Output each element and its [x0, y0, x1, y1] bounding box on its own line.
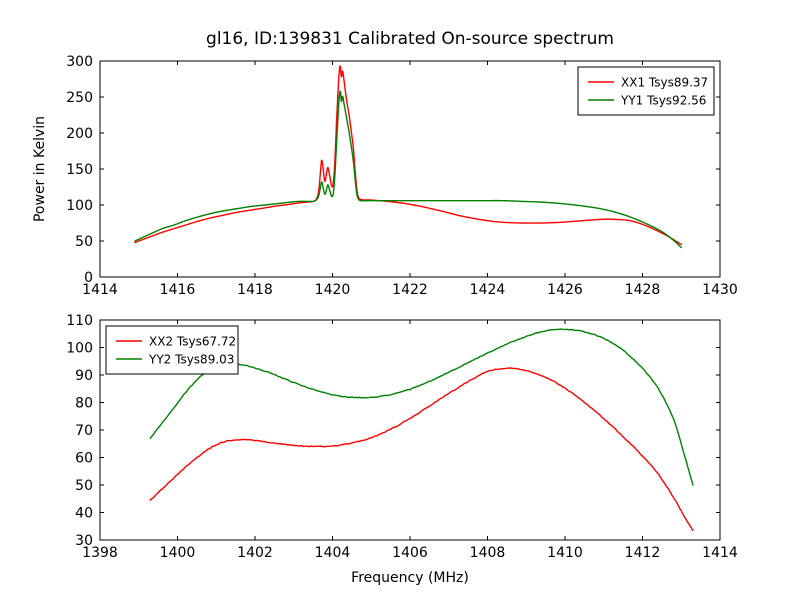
- matplotlib-figure: gl16, ID:139831 Calibrated On-source spe…: [0, 0, 800, 600]
- legend-box: [578, 67, 714, 115]
- x-tick-label: 1422: [392, 282, 428, 298]
- y-tick-label: 100: [66, 198, 93, 214]
- x-tick-label: 1424: [470, 282, 506, 298]
- x-tick-label: 1420: [315, 282, 351, 298]
- y-tick-label: 0: [84, 270, 93, 286]
- x-tick-label: 1428: [625, 282, 661, 298]
- legend: XX2 Tsys67.72YY2 Tsys89.03: [106, 326, 238, 374]
- y-tick-label: 50: [75, 234, 93, 250]
- x-tick-label: 1400: [160, 545, 196, 561]
- spectrum-plot-canvas: gl16, ID:139831 Calibrated On-source spe…: [0, 0, 800, 600]
- legend-label: YY1 Tsys92.56: [620, 94, 706, 108]
- x-tick-label: 1414: [702, 545, 738, 561]
- y-tick-label: 300: [66, 54, 93, 70]
- y-tick-label: 90: [75, 368, 93, 384]
- legend-label: XX1 Tsys89.37: [621, 76, 708, 90]
- y-tick-label: 250: [66, 90, 93, 106]
- legend-label: YY2 Tsys89.03: [148, 353, 234, 367]
- x-tick-label: 1410: [547, 545, 583, 561]
- x-tick-label: 1408: [470, 545, 506, 561]
- x-tick-label: 1412: [625, 545, 661, 561]
- x-tick-label: 1416: [160, 282, 196, 298]
- legend-box: [106, 326, 238, 374]
- y-tick-label: 80: [75, 396, 93, 412]
- y-tick-label: 150: [66, 162, 93, 178]
- legend-label: XX2 Tsys67.72: [149, 335, 236, 349]
- x-tick-label: 1406: [392, 545, 428, 561]
- y-tick-label: 40: [75, 506, 93, 522]
- y-tick-label: 200: [66, 126, 93, 142]
- y-tick-label: 110: [66, 313, 93, 329]
- y-axis-label: Power in Kelvin: [32, 116, 48, 222]
- y-tick-label: 70: [75, 423, 93, 439]
- x-tick-label: 1404: [315, 545, 351, 561]
- x-tick-label: 1426: [547, 282, 583, 298]
- page-title: gl16, ID:139831 Calibrated On-source spe…: [206, 29, 614, 49]
- x-axis-label: Frequency (MHz): [351, 570, 469, 586]
- y-tick-label: 60: [75, 451, 93, 467]
- legend: XX1 Tsys89.37YY1 Tsys92.56: [578, 67, 714, 115]
- x-tick-label: 1402: [237, 545, 273, 561]
- x-tick-label: 1430: [702, 282, 738, 298]
- y-tick-label: 30: [75, 533, 93, 549]
- y-tick-label: 100: [66, 341, 93, 357]
- y-tick-label: 50: [75, 478, 93, 494]
- x-tick-label: 1418: [237, 282, 273, 298]
